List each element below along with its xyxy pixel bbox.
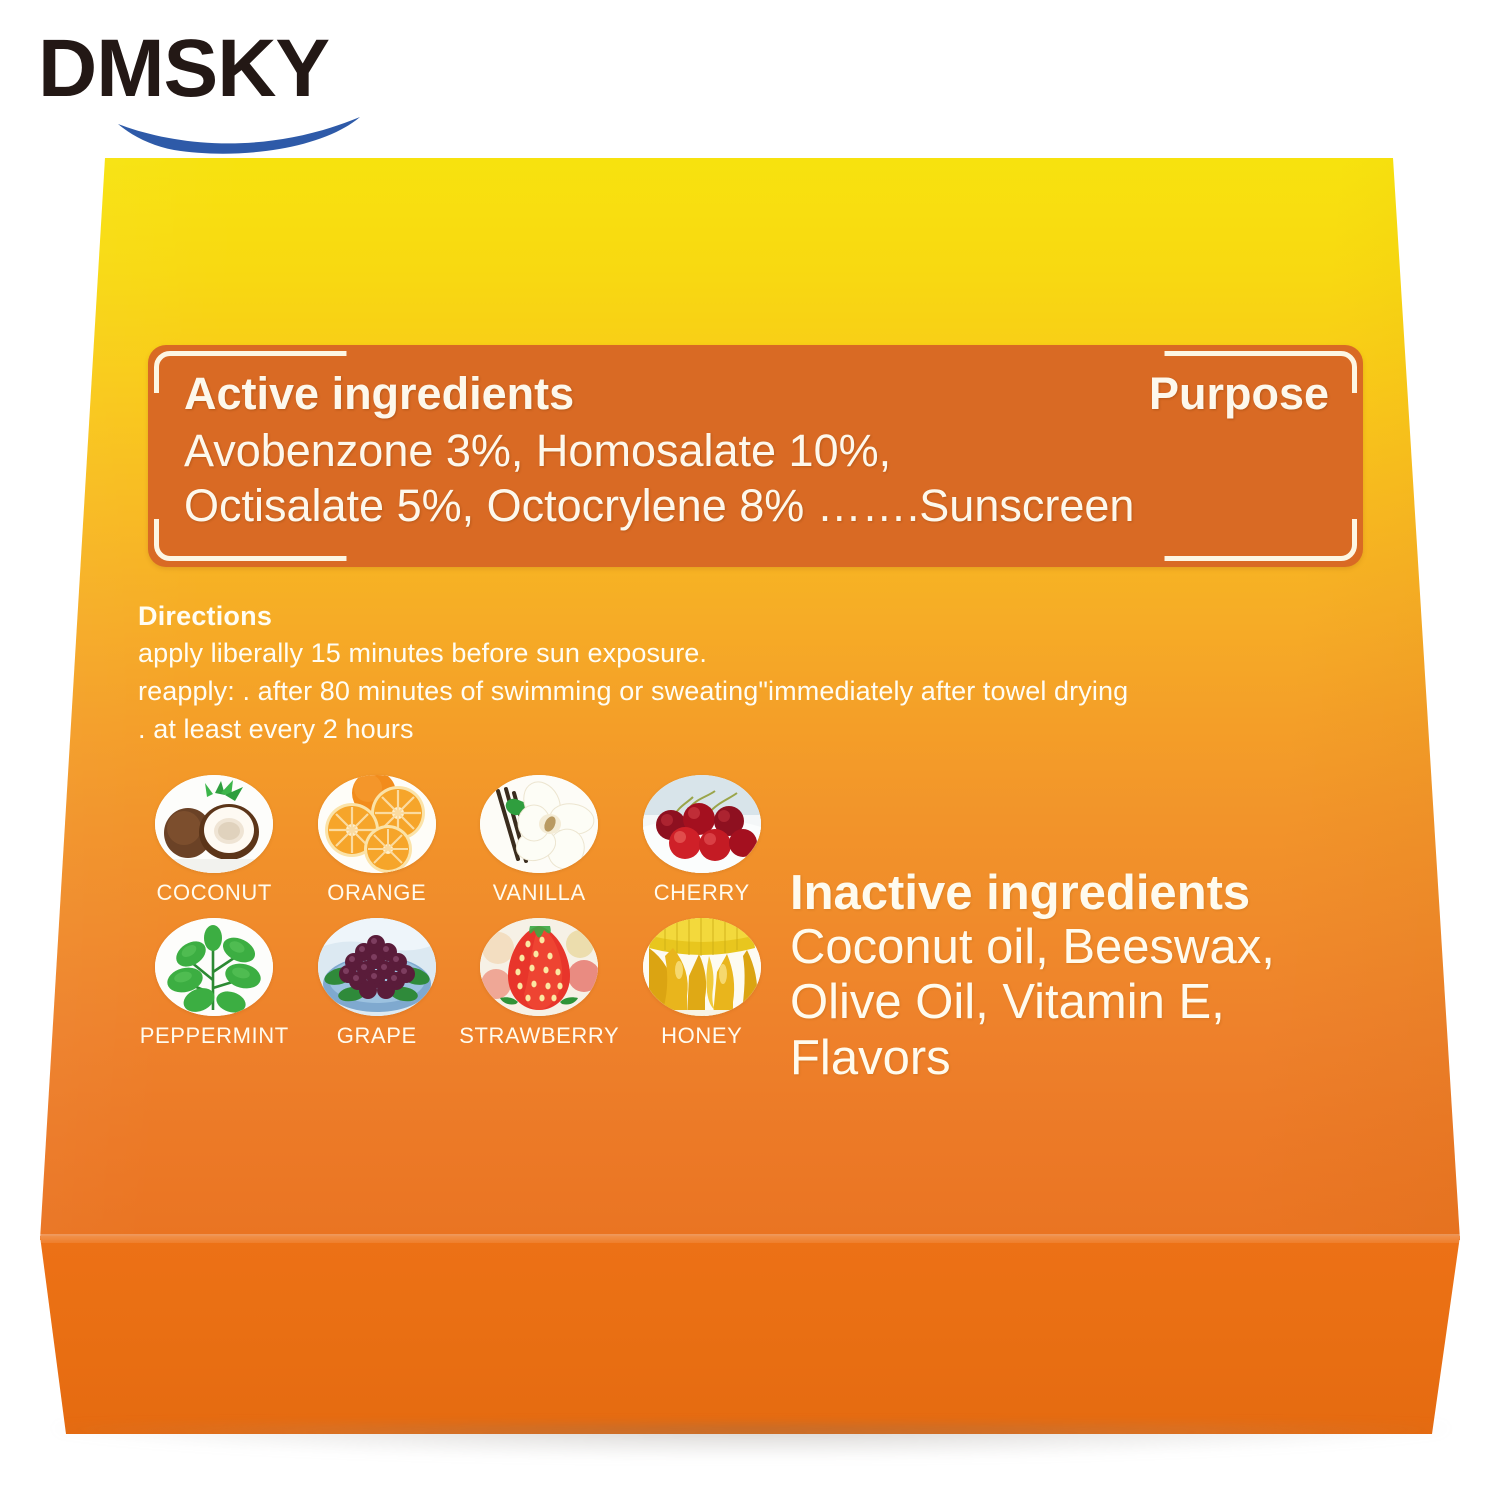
flavor-item-honey: HONEY xyxy=(621,918,784,1049)
flavor-label: CHERRY xyxy=(654,880,750,906)
flavor-label: PEPPERMINT xyxy=(140,1023,289,1049)
active-ingredients-line-2: Octisalate 5%, Octocrylene 8% …….Sunscre… xyxy=(184,479,1329,534)
flavor-label: GRAPE xyxy=(337,1023,417,1049)
active-ingredients-body: Avobenzone 3%, Homosalate 10%, Octisalat… xyxy=(184,424,1329,534)
inactive-ingredients-line-2: Olive Oil, Vitamin E, xyxy=(790,975,1390,1030)
inactive-ingredients-block: Inactive ingredients Coconut oil, Beeswa… xyxy=(790,868,1390,1086)
coconut-icon xyxy=(155,775,273,873)
flavor-item-strawberry: STRAWBERRY xyxy=(458,918,621,1049)
inactive-ingredients-title: Inactive ingredients xyxy=(790,868,1390,920)
honey-icon xyxy=(643,918,761,1016)
active-panel-content: Active ingredients Purpose Avobenzone 3%… xyxy=(148,345,1363,567)
active-ingredients-line-1: Avobenzone 3%, Homosalate 10%, xyxy=(184,424,1329,479)
flavor-label: COCONUT xyxy=(157,880,272,906)
orange-icon xyxy=(318,775,436,873)
flavor-label: STRAWBERRY xyxy=(459,1023,619,1049)
inactive-ingredients-line-3: Flavors xyxy=(790,1031,1390,1086)
active-ingredients-heading: Active ingredients xyxy=(184,371,574,418)
flavor-item-grape: GRAPE xyxy=(296,918,459,1049)
grape-icon xyxy=(318,918,436,1016)
cherry-icon xyxy=(643,775,761,873)
peppermint-icon xyxy=(155,918,273,1016)
directions-title: Directions xyxy=(138,600,1388,634)
strawberry-icon xyxy=(480,918,598,1016)
flavor-item-cherry: CHERRY xyxy=(621,775,784,906)
directions-line-1: apply liberally 15 minutes before sun ex… xyxy=(138,634,1388,672)
flavor-label: VANILLA xyxy=(493,880,586,906)
active-panel-header-row: Active ingredients Purpose xyxy=(184,371,1329,418)
carton-printed-content: Active ingredients Purpose Avobenzone 3%… xyxy=(0,0,1500,1500)
flavor-row: PEPPERMINT xyxy=(133,918,783,1049)
flavor-item-peppermint: PEPPERMINT xyxy=(133,918,296,1049)
vanilla-icon xyxy=(480,775,598,873)
flavor-item-vanilla: VANILLA xyxy=(458,775,621,906)
flavor-grid: COCONUT xyxy=(133,775,783,1049)
inactive-ingredients-line-1: Coconut oil, Beeswax, xyxy=(790,920,1390,975)
flavor-label: ORANGE xyxy=(327,880,426,906)
flavor-item-orange: ORANGE xyxy=(296,775,459,906)
flavor-label: HONEY xyxy=(661,1023,742,1049)
directions-line-3: . at least every 2 hours xyxy=(138,710,1388,748)
flavor-row: COCONUT xyxy=(133,775,783,906)
purpose-heading: Purpose xyxy=(1149,371,1329,418)
directions-block: Directions apply liberally 15 minutes be… xyxy=(138,600,1388,749)
active-ingredients-panel: Active ingredients Purpose Avobenzone 3%… xyxy=(148,345,1363,567)
directions-line-2: reapply: . after 80 minutes of swimming … xyxy=(138,672,1388,710)
flavor-item-coconut: COCONUT xyxy=(133,775,296,906)
